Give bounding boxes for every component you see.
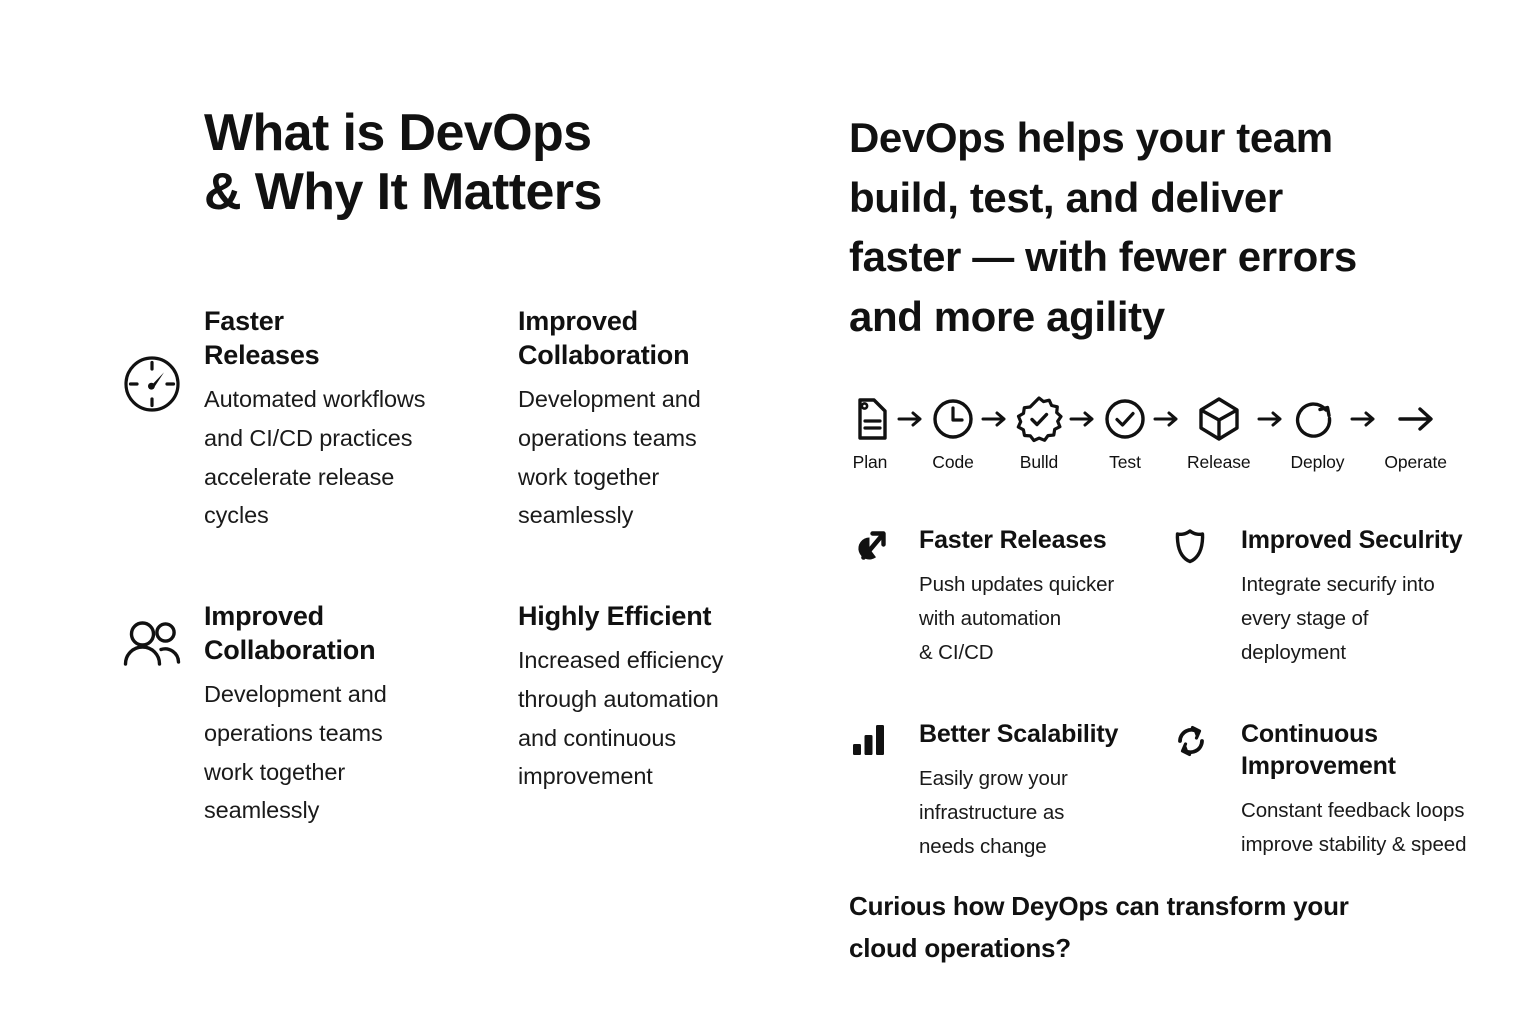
document-icon — [849, 396, 891, 442]
feature-body: Push updates quicker with automation & C… — [919, 568, 1171, 670]
left-card-title: Faster Releases — [204, 304, 518, 372]
pipeline-step-plan: Plan — [849, 396, 891, 473]
check-circle-icon — [1103, 396, 1147, 442]
arrow-right-icon — [1344, 396, 1384, 442]
pipeline-label: Release — [1187, 452, 1251, 473]
left-card-improved-collaboration-top: Improved Collaboration Development and o… — [518, 304, 818, 535]
shield-icon — [1171, 526, 1217, 568]
arrow-right-icon — [975, 396, 1015, 442]
left-card-body: Increased efficiency through automation … — [518, 641, 818, 796]
feature-card-continuous-improvement: Continuous Improvement Constant feedback… — [1171, 718, 1501, 864]
feature-title: Continuous Improvement — [1241, 718, 1501, 782]
pipeline-label: Plan — [853, 452, 888, 473]
feature-card-faster-releases: Faster Releases Push updates quicker wit… — [849, 524, 1171, 670]
feature-card-improved-security: Improved Seculrity Integrate securify in… — [1171, 524, 1501, 670]
feature-title: Improved Seculrity — [1241, 524, 1501, 556]
pipeline-step-test: Test — [1103, 396, 1147, 473]
clock-icon — [931, 396, 975, 442]
pipeline-step-build: Bulld — [1015, 396, 1063, 473]
rocket-arrow-icon — [849, 526, 895, 568]
pipeline-label: Code — [932, 452, 973, 473]
feature-title: Faster Releases — [919, 524, 1171, 556]
pipeline-label: Bulld — [1020, 452, 1058, 473]
arrow-right-icon — [1251, 396, 1291, 442]
cube-icon — [1196, 396, 1242, 442]
left-card-highly-efficient: Highly Efficient Increased efficiency th… — [518, 599, 818, 830]
feature-card-better-scalability: Better Scalability Easily grow your infr… — [849, 718, 1171, 864]
gear-check-icon — [1015, 396, 1063, 442]
feature-body: Easily grow your infrastructure as needs… — [919, 762, 1171, 864]
left-feature-grid: Faster Releases Automated workflows and … — [204, 304, 844, 830]
left-card-title: Highly Efficient — [518, 599, 818, 633]
sync-icon — [1171, 720, 1217, 762]
arrow-right-icon — [1063, 396, 1103, 442]
right-panel: DevOps helps your team build, test, and … — [849, 108, 1499, 347]
cta-text: Curious how DeyOps can transform your cl… — [849, 885, 1469, 969]
left-title: What is DevOps & Why It Matters — [204, 104, 824, 222]
devops-pipeline: Plan Code Bulld — [849, 396, 1447, 473]
refresh-circle-icon — [1295, 396, 1339, 442]
pipeline-label: Test — [1109, 452, 1141, 473]
pipeline-label: Operate — [1384, 452, 1447, 473]
pipeline-step-operate: Operate — [1384, 396, 1447, 473]
left-card-body: Development and operations teams work to… — [204, 675, 518, 830]
arrow-right-icon — [891, 396, 931, 442]
pipeline-step-release: Release — [1187, 396, 1251, 473]
arrow-right-icon — [1147, 396, 1187, 442]
left-card-title: Improved Collaboration — [204, 599, 518, 667]
pipeline-step-deploy: Deploy — [1291, 396, 1345, 473]
arrow-right-large-icon — [1394, 396, 1438, 442]
left-card-faster-releases: Faster Releases Automated workflows and … — [204, 304, 518, 535]
left-card-improved-collaboration-bottom: Improved Collaboration Development and o… — [204, 599, 518, 830]
bar-chart-icon — [849, 722, 895, 764]
right-title: DevOps helps your team build, test, and … — [849, 108, 1499, 347]
right-feature-grid: Faster Releases Push updates quicker wit… — [849, 524, 1509, 864]
left-card-body: Development and operations teams work to… — [518, 380, 818, 535]
left-card-title: Improved Collaboration — [518, 304, 818, 372]
pipeline-step-code: Code — [931, 396, 975, 473]
feature-body: Integrate securify into every stage of d… — [1241, 568, 1501, 670]
feature-title: Better Scalability — [919, 718, 1171, 750]
feature-body: Constant feedback loops improve stabilit… — [1241, 794, 1501, 862]
left-panel: What is DevOps & Why It Matters — [204, 104, 824, 222]
slide-canvas: What is DevOps & Why It Matters Faster R… — [0, 0, 1536, 1024]
speedometer-icon — [120, 352, 184, 416]
people-icon — [120, 617, 184, 681]
pipeline-label: Deploy — [1291, 452, 1345, 473]
left-card-body: Automated workflows and CI/CD practices … — [204, 380, 518, 535]
